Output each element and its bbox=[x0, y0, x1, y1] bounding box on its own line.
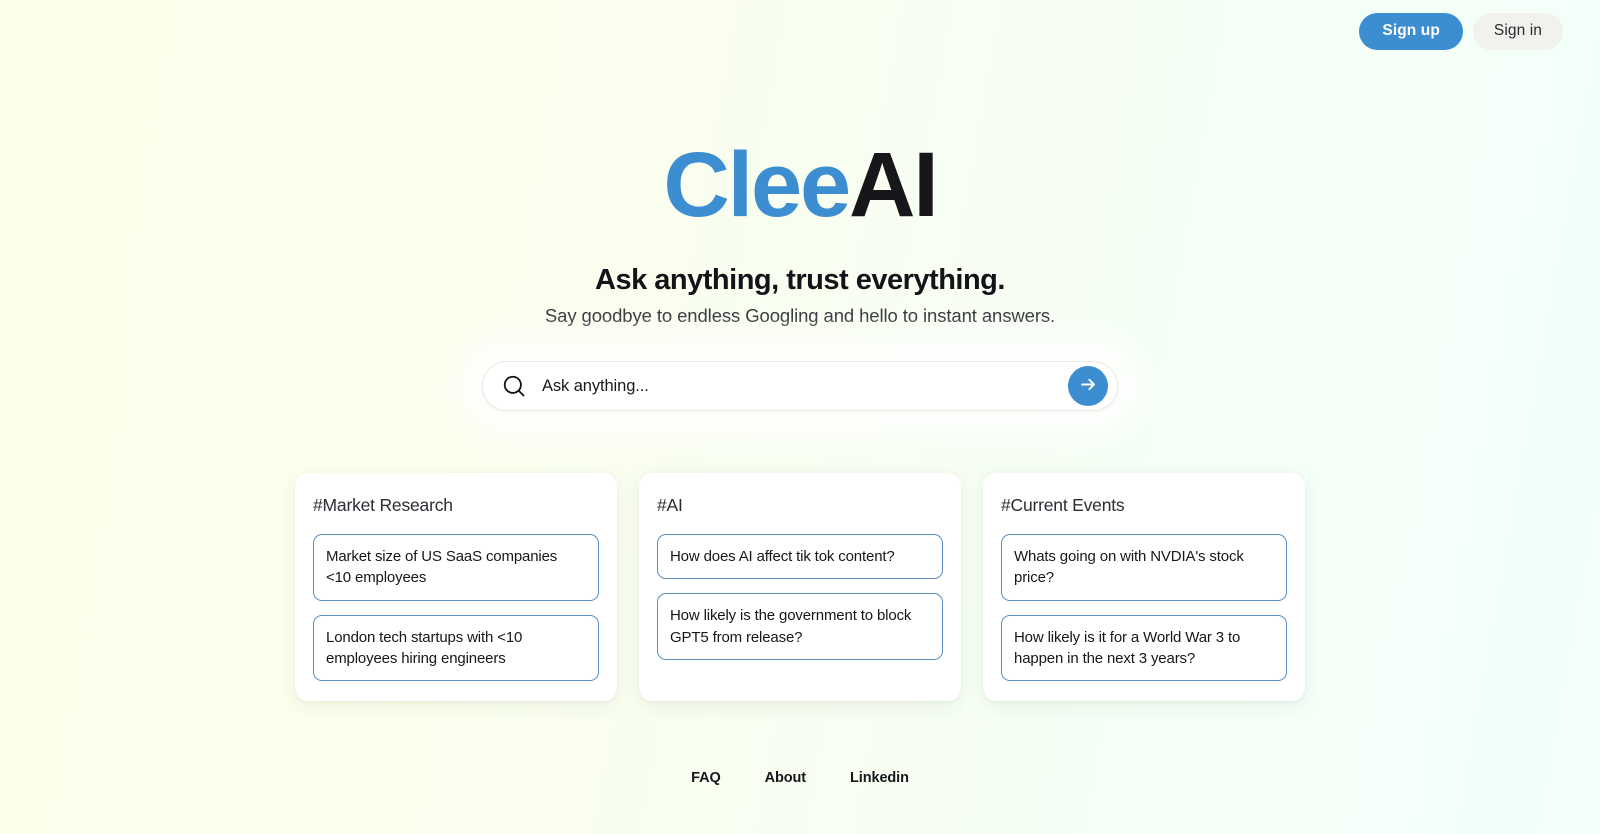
page-subtitle: Say goodbye to endless Googling and hell… bbox=[0, 305, 1600, 327]
footer-link-about[interactable]: About bbox=[765, 770, 806, 786]
search-container bbox=[464, 343, 1136, 429]
suggestion-chip[interactable]: Whats going on with NVDIA's stock price? bbox=[1001, 534, 1287, 601]
footer: FAQ About Linkedin bbox=[0, 770, 1600, 786]
app-logo: CleeAI bbox=[0, 139, 1600, 231]
hero-section: CleeAI Ask anything, trust everything. S… bbox=[0, 0, 1600, 327]
suggestion-cards: #Market Research Market size of US SaaS … bbox=[295, 473, 1305, 701]
card-title: #AI bbox=[657, 495, 943, 516]
card-title: #Current Events bbox=[1001, 495, 1287, 516]
suggestion-chip[interactable]: How likely is the government to block GP… bbox=[657, 593, 943, 660]
card-title: #Market Research bbox=[313, 495, 599, 516]
chip-list: Market size of US SaaS companies <10 emp… bbox=[313, 534, 599, 681]
search-bar[interactable] bbox=[482, 361, 1118, 411]
chip-list: How does AI affect tik tok content? How … bbox=[657, 534, 943, 660]
search-input[interactable] bbox=[542, 377, 1068, 396]
suggestion-card-market-research: #Market Research Market size of US SaaS … bbox=[295, 473, 617, 701]
chip-list: Whats going on with NVDIA's stock price?… bbox=[1001, 534, 1287, 681]
suggestion-card-current-events: #Current Events Whats going on with NVDI… bbox=[983, 473, 1305, 701]
suggestion-card-ai: #AI How does AI affect tik tok content? … bbox=[639, 473, 961, 701]
logo-text-ai: AI bbox=[849, 134, 937, 236]
suggestion-chip[interactable]: London tech startups with <10 employees … bbox=[313, 615, 599, 682]
footer-link-faq[interactable]: FAQ bbox=[691, 770, 721, 786]
search-icon bbox=[501, 373, 528, 400]
page-title: Ask anything, trust everything. bbox=[0, 264, 1600, 297]
logo-text-clee: Clee bbox=[663, 134, 849, 236]
suggestion-chip[interactable]: How does AI affect tik tok content? bbox=[657, 534, 943, 579]
suggestion-chip[interactable]: Market size of US SaaS companies <10 emp… bbox=[313, 534, 599, 601]
footer-link-linkedin[interactable]: Linkedin bbox=[850, 770, 909, 786]
arrow-right-icon bbox=[1079, 375, 1098, 397]
search-submit-button[interactable] bbox=[1068, 366, 1108, 406]
suggestion-chip[interactable]: How likely is it for a World War 3 to ha… bbox=[1001, 615, 1287, 682]
